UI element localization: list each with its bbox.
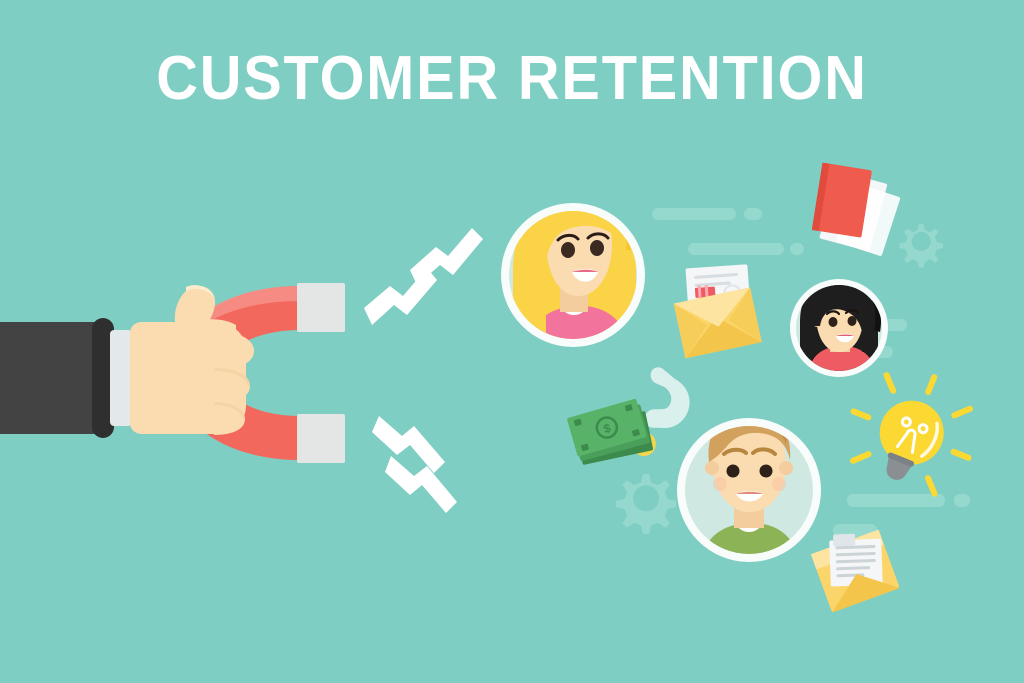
avatar-dark-haired-woman <box>790 279 888 377</box>
red-folder <box>810 163 905 258</box>
avatar-young-man <box>677 414 821 562</box>
magnet-tip-bottom <box>297 414 345 463</box>
avatar-blonde-woman <box>501 199 645 347</box>
illustration-canvas: $ <box>0 0 1024 683</box>
gear-ghost-left <box>616 474 676 534</box>
page-title: CUSTOMER RETENTION <box>36 48 988 110</box>
lightning-bottom <box>372 416 457 513</box>
envelope-letter <box>667 256 764 359</box>
light-bulb <box>836 354 992 502</box>
sleeve <box>0 318 132 438</box>
money-bills: $ <box>567 396 659 474</box>
gear-ghost-right <box>900 224 944 268</box>
lightning-top <box>364 228 483 325</box>
magnet-tip-top <box>297 283 345 332</box>
